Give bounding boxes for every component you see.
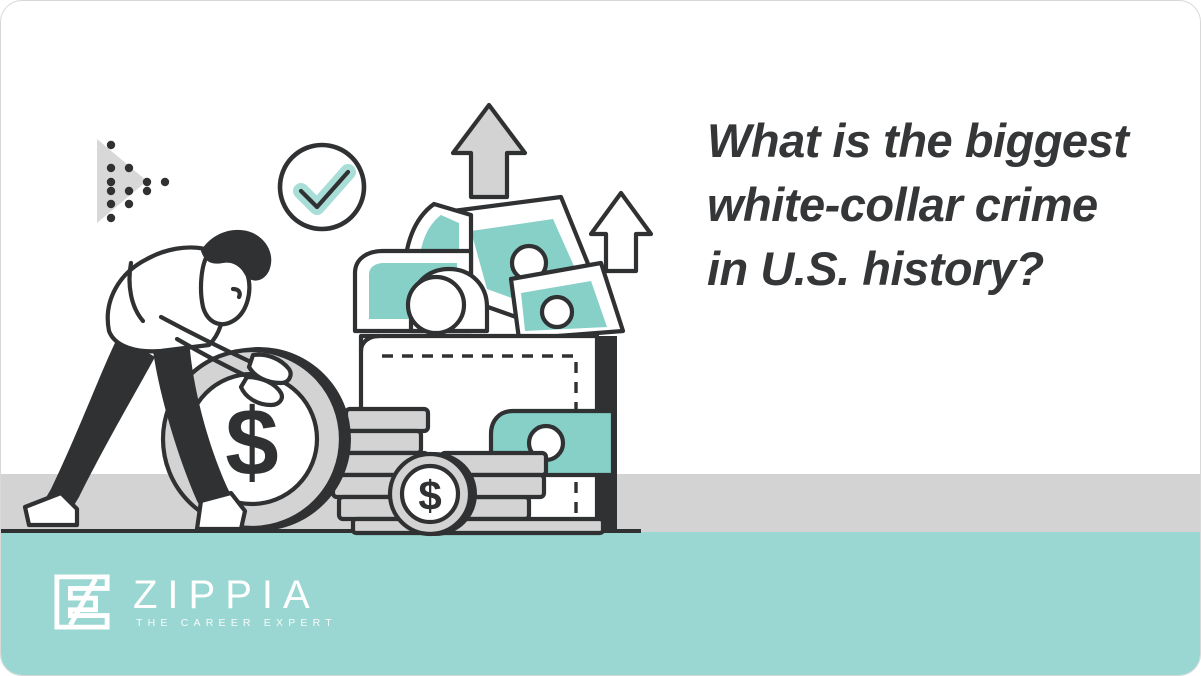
page-title: What is the biggest white-collar crime i… (707, 109, 1137, 301)
arrow-up-small-icon (591, 193, 651, 271)
infographic-card: .ink { fill:none; stroke:#2f3133; stroke… (0, 0, 1201, 676)
illustration-group: .ink { fill:none; stroke:#2f3133; stroke… (1, 1, 701, 561)
arrow-up-large-icon (453, 105, 525, 197)
gray-triangle-icon (97, 139, 147, 223)
dollar-sign-small: $ (418, 472, 441, 519)
check-circle-icon (280, 145, 364, 229)
shoe-front (197, 493, 245, 529)
logo-wordmark: ZIPPIA (133, 574, 337, 616)
zippia-logo: ZIPPIA THE CAREER EXPERT (53, 573, 337, 631)
zippia-z-mark-icon (53, 573, 111, 631)
small-dollar-coin-icon: $ (390, 452, 477, 536)
logo-tagline: THE CAREER EXPERT (133, 616, 337, 630)
banknotes-icon (355, 197, 623, 339)
